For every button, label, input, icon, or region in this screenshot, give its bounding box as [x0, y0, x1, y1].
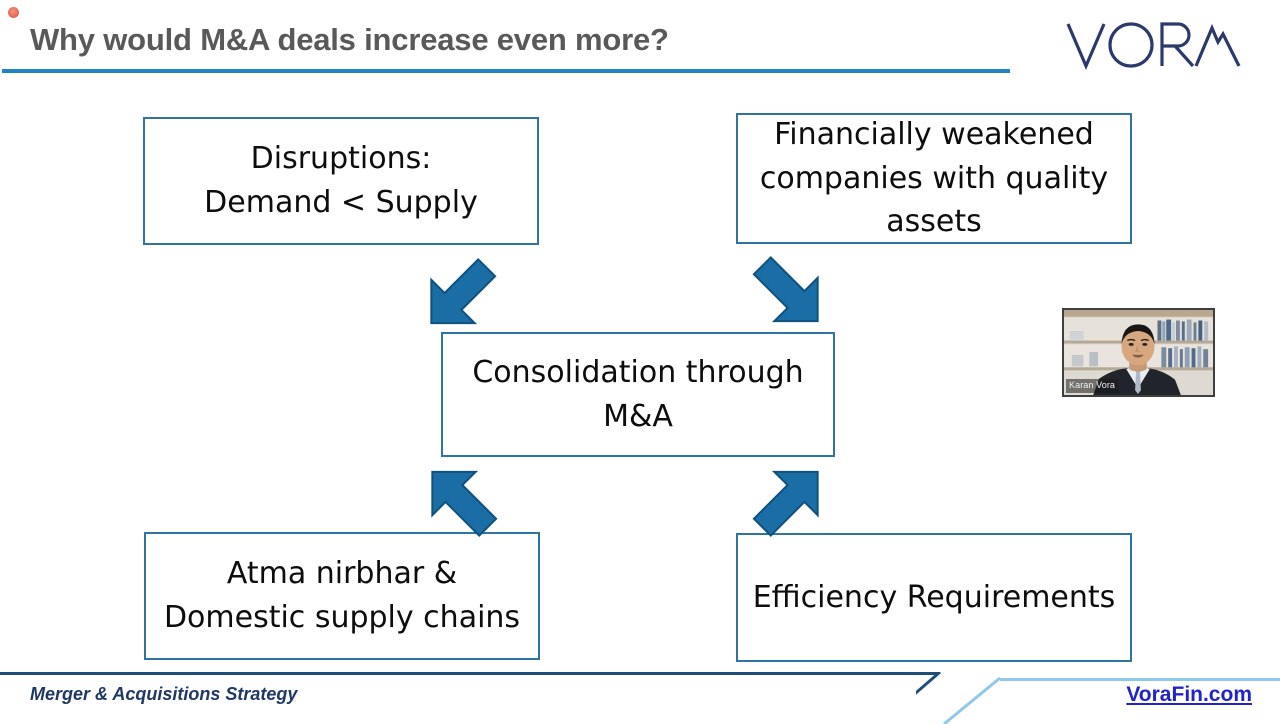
diagram-box-label: Atma nirbhar & Domestic supply chains: [154, 552, 530, 640]
presentation-slide: Why would M&A deals increase even more? …: [0, 0, 1280, 720]
footer-website-link[interactable]: VoraFin.com: [1126, 683, 1252, 707]
diagram-box-atma-nirbhar: Atma nirbhar & Domestic supply chains: [144, 532, 540, 660]
webcam-participant-name: Karan Vora: [1066, 379, 1119, 393]
diagram-box-label: Efficiency Requirements: [743, 576, 1126, 620]
diagram-box-label: Disruptions: Demand < Supply: [194, 137, 488, 225]
arrow-up-right-icon: [415, 457, 505, 542]
arrow-down-left-icon: [745, 251, 835, 336]
footer-diagonal-light: [900, 676, 1012, 724]
arrow-up-left-icon: [745, 457, 835, 542]
diagram-box-disruptions: Disruptions: Demand < Supply: [143, 117, 539, 245]
footer-divider-light: [1000, 678, 1280, 681]
diagram-box-weakened-companies: Financially weakened companies with qual…: [736, 113, 1132, 244]
page-title: Why would M&A deals increase even more?: [30, 22, 990, 58]
diagram-box-label: Consolidation through M&A: [443, 351, 833, 439]
recording-indicator-icon: [8, 7, 19, 18]
diagram-box-efficiency: Efficiency Requirements: [736, 533, 1132, 662]
vora-logo: [1062, 16, 1242, 74]
footer-divider-dark: [0, 672, 938, 675]
arrow-down-right-icon: [414, 253, 504, 338]
title-underline-divider: [2, 69, 1010, 73]
webcam-video-tile[interactable]: Karan Vora: [1062, 308, 1215, 397]
diagram-box-label: Financially weakened companies with qual…: [738, 113, 1130, 244]
diagram-box-consolidation: Consolidation through M&A: [441, 332, 835, 457]
footer-subtitle: Merger & Acquisitions Strategy: [30, 684, 297, 705]
